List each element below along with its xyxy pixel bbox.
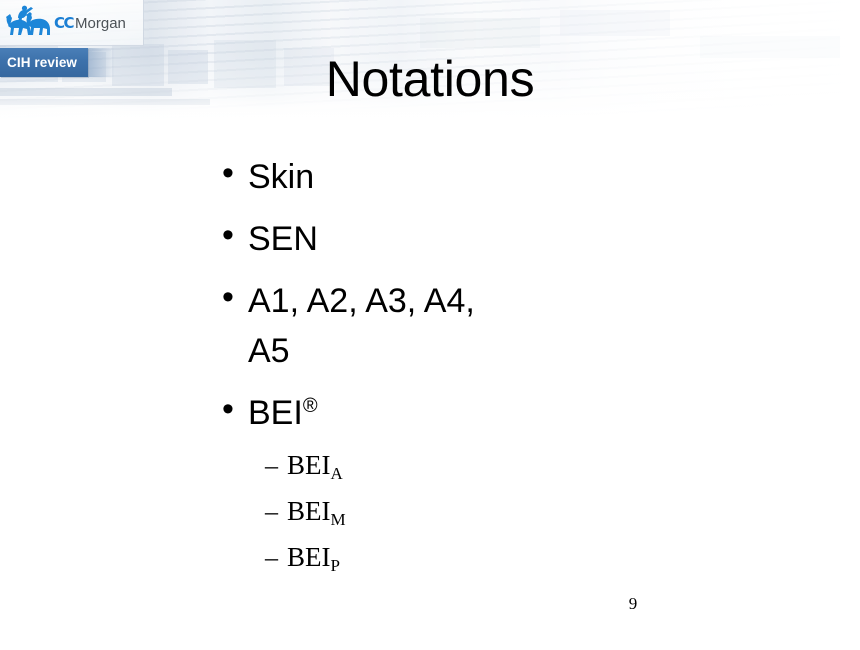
- equestrian-emblem-icon: [4, 4, 52, 42]
- presentation-slide: CC Morgan CIH review Notations • Skin • …: [0, 0, 860, 650]
- registered-trademark-icon: ®: [303, 395, 318, 417]
- bullet-text-main: BEI: [248, 394, 303, 432]
- bullet-text: A1, A2, A3, A4, A5: [248, 276, 513, 376]
- dash-marker-icon: –: [265, 543, 287, 573]
- list-item: • BEI®: [222, 388, 622, 438]
- list-item: • SEN: [222, 214, 622, 264]
- bullet-text: BEI®: [248, 388, 318, 438]
- slide-body: • Skin • SEN • A1, A2, A3, A4, A5 • BEI®…: [222, 152, 622, 588]
- sub-list-item: – BEIA: [265, 450, 622, 496]
- brand-logo: CC Morgan: [0, 0, 144, 46]
- sub-bullet-list: – BEIA – BEIM – BEIP: [265, 450, 622, 588]
- sub-bullet-text-main: BEI: [287, 450, 331, 480]
- list-item: • Skin: [222, 152, 622, 202]
- page-title: Notations: [0, 50, 860, 108]
- sub-bullet-text: BEIP: [287, 542, 340, 576]
- sub-list-item: – BEIM: [265, 496, 622, 542]
- sub-bullet-text-main: BEI: [287, 542, 331, 572]
- list-item: • A1, A2, A3, A4, A5: [222, 276, 622, 376]
- sub-bullet-text-main: BEI: [287, 496, 331, 526]
- sub-list-item: – BEIP: [265, 542, 622, 588]
- brand-wordmark-cc: CC: [54, 14, 73, 32]
- bullet-marker-icon: •: [222, 276, 248, 318]
- sub-bullet-text: BEIM: [287, 496, 346, 530]
- sub-bullet-subscript: A: [331, 464, 343, 483]
- sub-bullet-subscript: M: [331, 510, 346, 529]
- bullet-marker-icon: •: [222, 388, 248, 430]
- sub-bullet-subscript: P: [331, 556, 340, 575]
- bullet-marker-icon: •: [222, 152, 248, 194]
- bullet-text: Skin: [248, 152, 314, 202]
- dash-marker-icon: –: [265, 497, 287, 527]
- page-number: 9: [618, 594, 648, 614]
- sub-bullet-text: BEIA: [287, 450, 343, 484]
- brand-wordmark-morgan: Morgan: [75, 15, 126, 32]
- brand-wordmark: CC Morgan: [54, 14, 126, 32]
- bullet-text: SEN: [248, 214, 318, 264]
- bullet-marker-icon: •: [222, 214, 248, 256]
- dash-marker-icon: –: [265, 451, 287, 481]
